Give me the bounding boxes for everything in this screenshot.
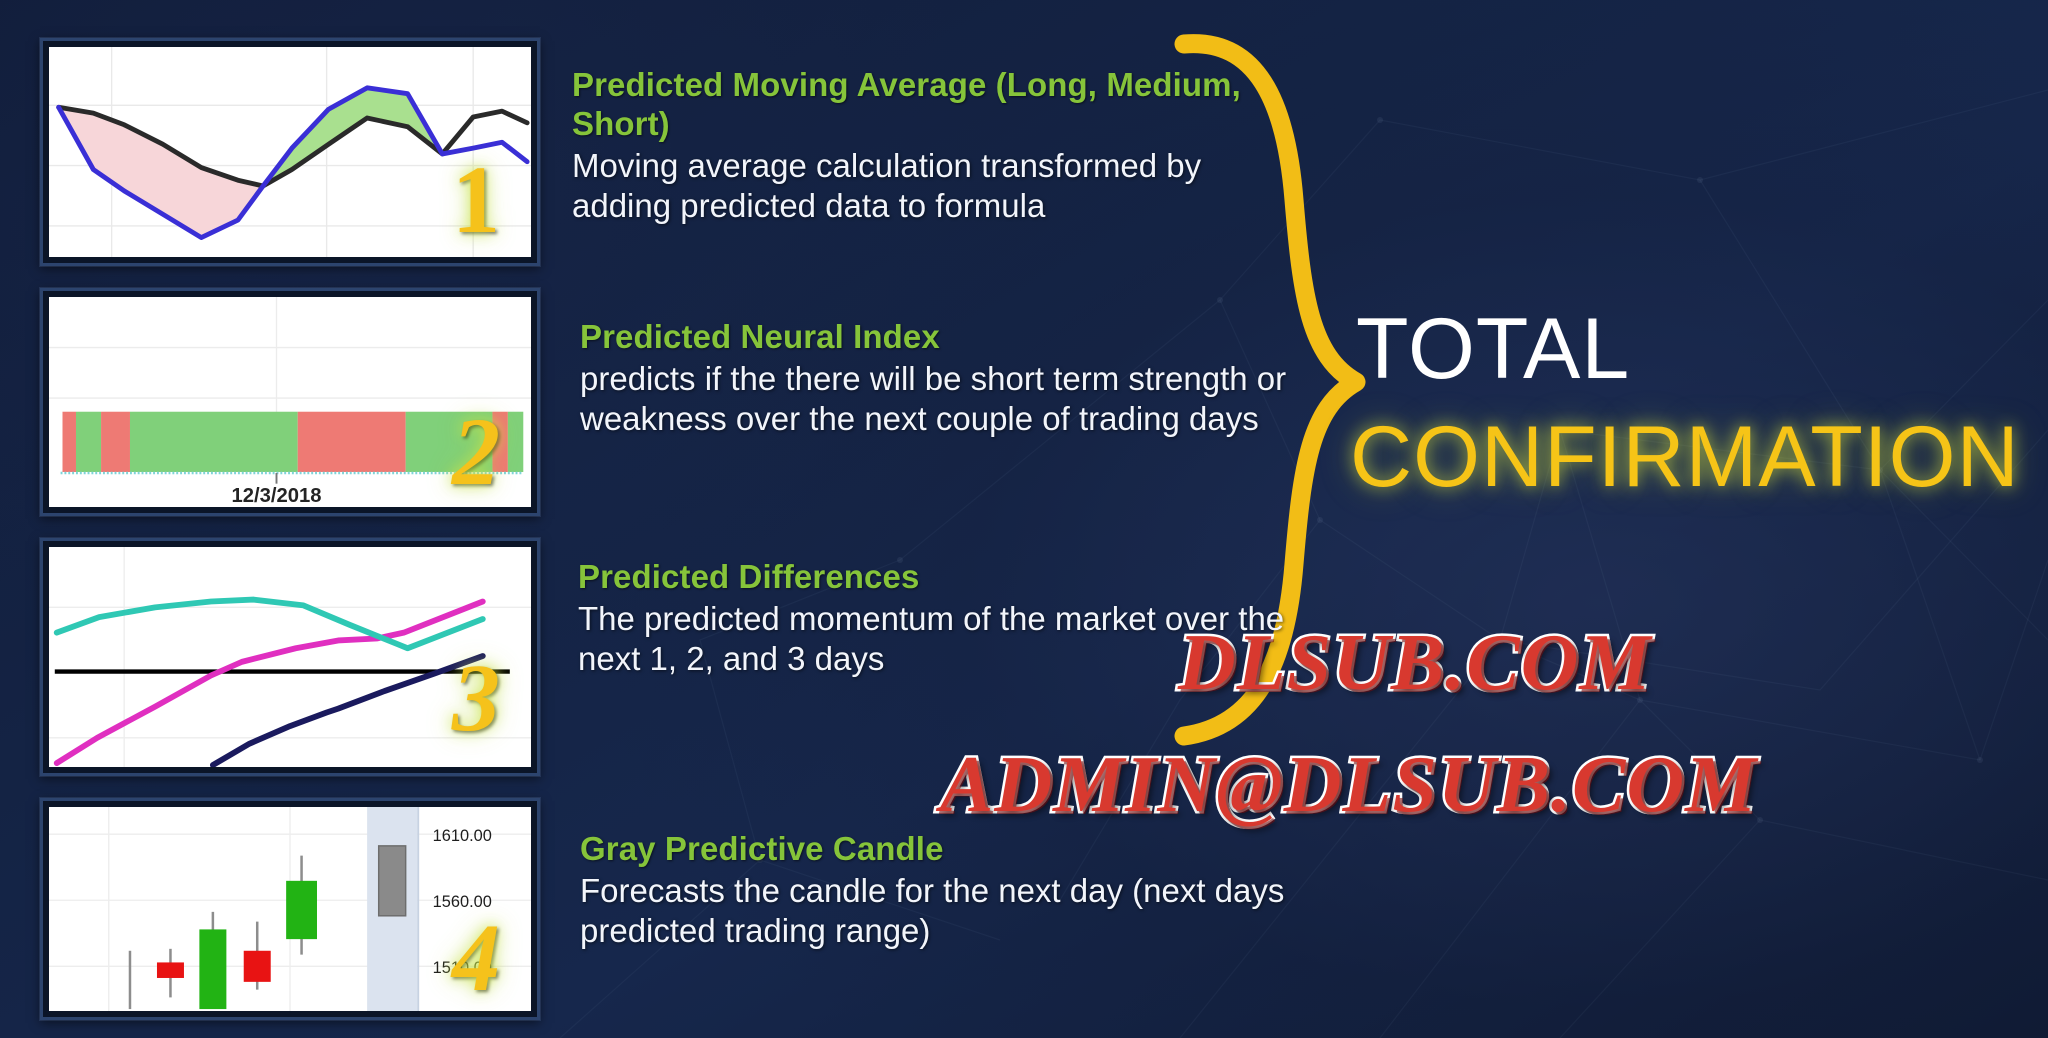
feature-block-1: Predicted Moving Average (Long, Medium, … — [572, 66, 1282, 226]
feature-heading-4: Gray Predictive Candle — [580, 830, 1290, 869]
headline-line-2: CONFIRMATION — [1350, 414, 2020, 500]
headline-total-confirmation: TOTAL CONFIRMATION — [1356, 306, 2020, 500]
infographic-canvas: 1 — [0, 0, 2048, 1038]
y-tick-1: 1610.00 — [433, 827, 492, 845]
feature-body-1: Moving average calculation transformed b… — [572, 146, 1282, 227]
feature-heading-1: Predicted Moving Average (Long, Medium, … — [572, 66, 1282, 144]
feature-heading-2: Predicted Neural Index — [580, 318, 1290, 357]
feature-body-4: Forecasts the candle for the next day (n… — [580, 871, 1290, 952]
feature-heading-3: Predicted Differences — [578, 558, 1288, 597]
feature-block-4: Gray Predictive Candle Forecasts the can… — [580, 830, 1290, 951]
headline-line-1: TOTAL — [1356, 306, 2020, 392]
feature-block-2: Predicted Neural Index predicts if the t… — [580, 318, 1290, 439]
gray-predictive-candle — [379, 846, 406, 916]
axis-date-label-2: 12/3/2018 — [231, 485, 321, 507]
step-number-4: 4 — [452, 910, 500, 1006]
step-number-3: 3 — [452, 650, 500, 746]
feature-body-2: predicts if the there will be short term… — [580, 359, 1290, 440]
watermark-site: DLSUB.COM — [1178, 618, 1652, 709]
step-number-2: 2 — [452, 404, 500, 500]
watermark-email: ADMIN@DLSUB.COM — [940, 740, 1757, 831]
step-number-1: 1 — [452, 152, 500, 248]
